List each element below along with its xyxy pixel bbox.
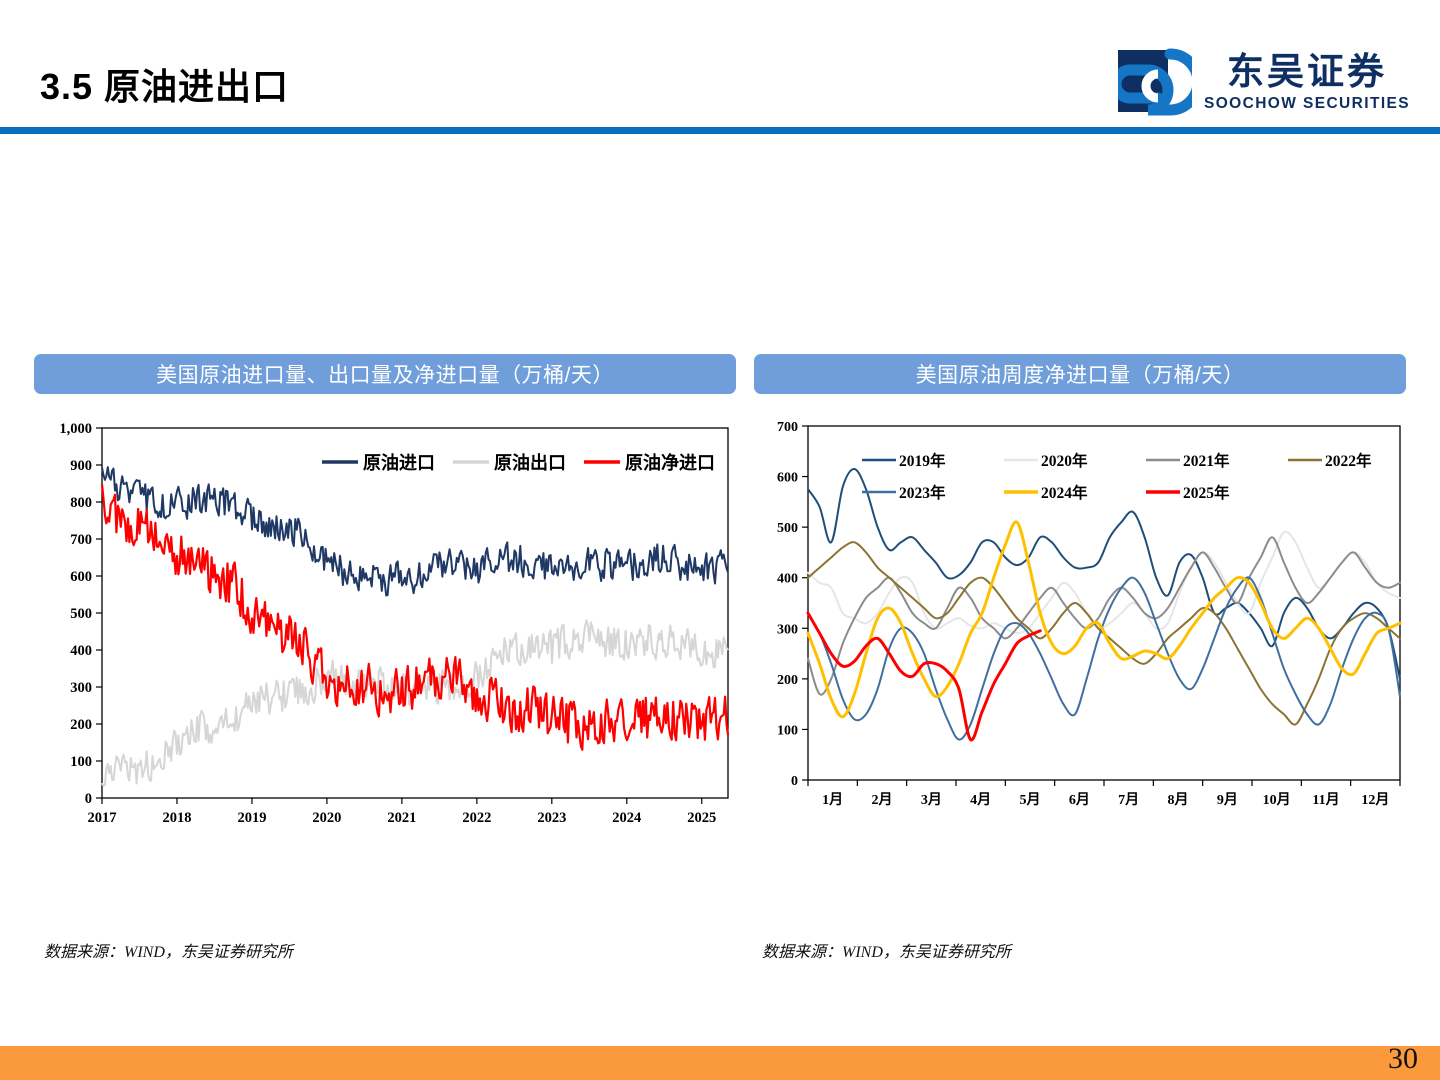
svg-text:2018: 2018 bbox=[162, 810, 191, 826]
svg-text:原油出口: 原油出口 bbox=[494, 452, 566, 473]
svg-text:2023年: 2023年 bbox=[899, 483, 946, 502]
svg-text:2025: 2025 bbox=[687, 810, 716, 826]
chart-title-banner-left: 美国原油进口量、出口量及净进口量（万桶/天） bbox=[34, 354, 736, 394]
svg-text:2021年: 2021年 bbox=[1183, 451, 1230, 470]
svg-text:3月: 3月 bbox=[921, 792, 942, 808]
svg-text:2024: 2024 bbox=[612, 810, 641, 826]
svg-text:100: 100 bbox=[70, 754, 92, 770]
svg-text:9月: 9月 bbox=[1217, 792, 1238, 808]
svg-text:2022: 2022 bbox=[462, 810, 491, 826]
svg-text:500: 500 bbox=[70, 606, 92, 622]
svg-text:100: 100 bbox=[777, 723, 798, 738]
svg-text:2021: 2021 bbox=[387, 810, 416, 826]
chart-title-banner-right: 美国原油周度净进口量（万桶/天） bbox=[754, 354, 1406, 394]
svg-text:原油净进口: 原油净进口 bbox=[625, 452, 715, 473]
logo-text-en: SOOCHOW SECURITIES bbox=[1204, 96, 1410, 112]
line-chart-left: 01002003004005006007008009001,0002017201… bbox=[34, 420, 736, 840]
svg-text:2020年: 2020年 bbox=[1041, 451, 1088, 470]
svg-text:600: 600 bbox=[70, 569, 92, 585]
logo-wordmark: 东吴证券 SOOCHOW SECURITIES bbox=[1204, 53, 1410, 112]
svg-text:200: 200 bbox=[70, 717, 92, 733]
line-chart-right: 01002003004005006007001月2月3月4月5月6月7月8月9月… bbox=[754, 420, 1406, 820]
svg-text:2月: 2月 bbox=[872, 792, 893, 808]
svg-text:5月: 5月 bbox=[1020, 792, 1041, 808]
svg-text:800: 800 bbox=[70, 495, 92, 511]
svg-text:500: 500 bbox=[777, 521, 798, 536]
source-note-left: 数据来源：WIND，东吴证券研究所 bbox=[44, 938, 293, 962]
page-title: 3.5 原油进出口 bbox=[40, 58, 289, 110]
svg-text:700: 700 bbox=[70, 532, 92, 548]
svg-text:11月: 11月 bbox=[1312, 792, 1339, 808]
header-divider bbox=[0, 127, 1440, 134]
brand-logo: 东吴证券 SOOCHOW SECURITIES bbox=[1118, 48, 1410, 116]
svg-text:6月: 6月 bbox=[1069, 792, 1090, 808]
svg-text:4月: 4月 bbox=[970, 792, 991, 808]
svg-text:10月: 10月 bbox=[1263, 792, 1291, 808]
svg-text:1,000: 1,000 bbox=[59, 421, 92, 437]
source-note-right: 数据来源：WIND，东吴证券研究所 bbox=[762, 938, 1011, 962]
svg-text:2017: 2017 bbox=[88, 810, 117, 826]
svg-text:7月: 7月 bbox=[1118, 792, 1139, 808]
svg-text:0: 0 bbox=[85, 791, 92, 807]
svg-text:原油进口: 原油进口 bbox=[363, 452, 435, 473]
svg-text:200: 200 bbox=[777, 673, 798, 688]
svg-text:12月: 12月 bbox=[1361, 792, 1389, 808]
svg-text:2019: 2019 bbox=[237, 810, 266, 826]
svg-text:1月: 1月 bbox=[822, 792, 843, 808]
svg-text:2025年: 2025年 bbox=[1183, 483, 1230, 502]
svg-text:400: 400 bbox=[70, 643, 92, 659]
svg-text:8月: 8月 bbox=[1168, 792, 1189, 808]
svg-text:2020: 2020 bbox=[312, 810, 341, 826]
svg-text:2019年: 2019年 bbox=[899, 451, 946, 470]
svg-text:2022年: 2022年 bbox=[1325, 451, 1372, 470]
svg-text:900: 900 bbox=[70, 458, 92, 474]
svg-text:300: 300 bbox=[777, 622, 798, 637]
svg-text:400: 400 bbox=[777, 572, 798, 587]
svg-text:0: 0 bbox=[791, 774, 798, 789]
svg-text:600: 600 bbox=[777, 471, 798, 486]
footer-bar bbox=[0, 1046, 1440, 1080]
chart-us-crude-import-export: 01002003004005006007008009001,0002017201… bbox=[34, 420, 736, 840]
svg-text:2024年: 2024年 bbox=[1041, 483, 1088, 502]
logo-text-cn: 东吴证券 bbox=[1227, 53, 1387, 90]
svg-text:700: 700 bbox=[777, 420, 798, 435]
chart-us-crude-weekly-net-import: 01002003004005006007001月2月3月4月5月6月7月8月9月… bbox=[754, 420, 1406, 820]
svg-text:300: 300 bbox=[70, 680, 92, 696]
page-number: 30 bbox=[1388, 1042, 1418, 1076]
svg-text:2023: 2023 bbox=[537, 810, 566, 826]
soochow-logo-icon bbox=[1118, 48, 1192, 116]
